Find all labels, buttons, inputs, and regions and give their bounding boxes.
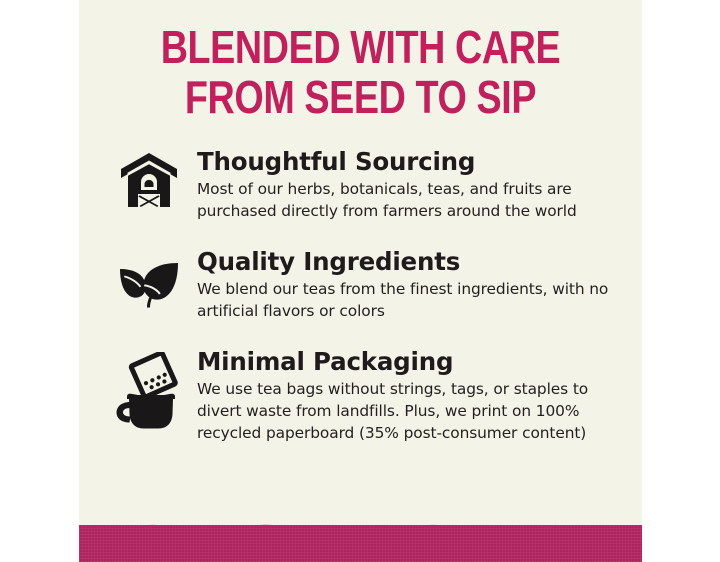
feature-text-block: Thoughtful Sourcing Most of our herbs, b…	[197, 148, 626, 222]
feature-item-quality-ingredients: Quality Ingredients We blend our teas fr…	[101, 248, 626, 322]
feature-title: Thoughtful Sourcing	[197, 148, 622, 176]
barn-icon	[101, 148, 197, 208]
feature-body: We use tea bags without strings, tags, o…	[197, 378, 622, 444]
infographic-root: Blended With Care From Seed To Sip	[0, 0, 720, 562]
feature-list: Thoughtful Sourcing Most of our herbs, b…	[101, 148, 626, 444]
feature-body: We blend our teas from the finest ingred…	[197, 278, 622, 322]
feature-title: Minimal Packaging	[197, 348, 622, 376]
feature-item-minimal-packaging: Minimal Packaging We use tea bags withou…	[101, 348, 626, 444]
band-texture	[79, 525, 642, 562]
feature-text-block: Quality Ingredients We blend our teas fr…	[197, 248, 626, 322]
teabag-mug-icon	[101, 348, 197, 430]
content-panel: Blended With Care From Seed To Sip	[79, 0, 642, 562]
feature-item-thoughtful-sourcing: Thoughtful Sourcing Most of our herbs, b…	[101, 148, 626, 222]
leaves-icon	[101, 248, 197, 308]
page-title-line-1: Blended With Care	[130, 22, 592, 72]
feature-title: Quality Ingredients	[197, 248, 622, 276]
bottom-color-band	[79, 525, 642, 562]
page-title-line-2: From Seed To Sip	[130, 72, 592, 122]
page-title: Blended With Care From Seed To Sip	[130, 22, 592, 122]
feature-text-block: Minimal Packaging We use tea bags withou…	[197, 348, 626, 444]
band-rough-edge	[79, 523, 642, 527]
feature-body: Most of our herbs, botanicals, teas, and…	[197, 178, 622, 222]
